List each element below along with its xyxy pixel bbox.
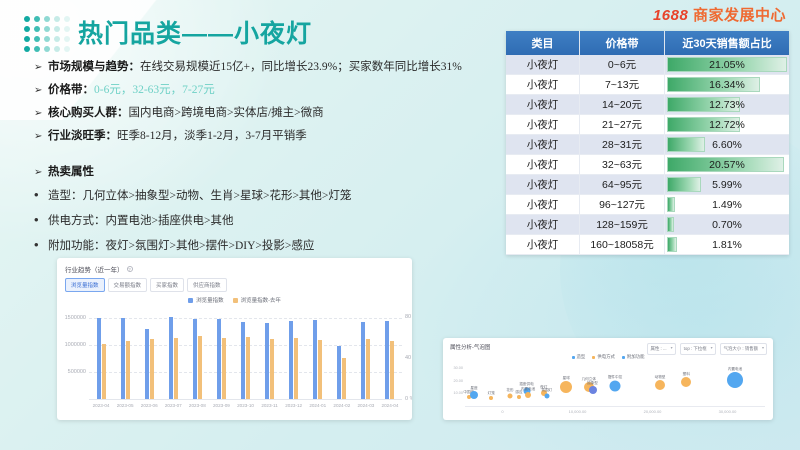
x-axis-tick-label: 0	[465, 407, 540, 414]
table-column-header: 近30天销售额占比	[664, 31, 789, 55]
key-fact-row: ➢核心购买人群：国内电商>跨境电商>实体店/摊主>微商	[34, 104, 504, 120]
table-row: 小夜灯28~31元6.60%	[506, 135, 789, 155]
chart-card-title: 行业趋势（近一年） ?	[65, 264, 412, 274]
logo-dot	[54, 26, 60, 32]
bubble-label: 花形	[506, 388, 513, 393]
x-axis-tick-label: 2023-12	[282, 400, 306, 408]
hot-attribute-row: •造型：几何立体>抽象型>动物、生肖>星球>花形>其他>灯笼	[34, 187, 504, 203]
x-axis-tick-label: 2023-05	[113, 400, 137, 408]
bubble-point[interactable]	[560, 381, 572, 393]
chart-tab[interactable]: 买家指数	[150, 278, 184, 292]
y2-axis-tick-label: 0 %	[405, 396, 412, 402]
chart-plot-area: 500000100000015000000 %40 %80 %	[89, 307, 402, 399]
cell-share: 21.05%	[664, 55, 789, 75]
chart-tab[interactable]: 交易额指数	[108, 278, 148, 292]
cell-price-band: 64~95元	[580, 175, 665, 195]
bubble-label: 塑料	[683, 372, 690, 377]
x-axis-tick-label: 30,000.00	[690, 407, 765, 414]
x-axis-tick-label: 2023-06	[137, 400, 161, 408]
x-axis-tick-label: 20,000.00	[615, 407, 690, 414]
key-fact-label: 核心购买人群：	[48, 104, 129, 120]
logo-dot	[24, 16, 30, 22]
key-facts-list: ➢市场规模与趋势：在线交易规模近15亿+，同比增长23.9%；买家数年同比增长3…	[34, 58, 504, 150]
key-fact-label: 价格带：	[48, 81, 94, 97]
logo-dot	[44, 26, 50, 32]
table-row: 小夜灯128~159元0.70%	[506, 215, 789, 235]
chart-legend: 浏览量指数浏览量指数-去年	[57, 296, 412, 304]
share-label: 21.05%	[667, 59, 787, 71]
logo-dot	[24, 46, 30, 52]
cell-price-band: 128~159元	[580, 215, 665, 235]
bubble-label: 星球	[563, 376, 570, 381]
bubble-card-controls: 属性 : ...top : 下拉框气泡大小 : 销售额	[647, 343, 767, 355]
key-fact-row: ➢市场规模与趋势：在线交易规模近15亿+，同比增长23.9%；买家数年同比增长3…	[34, 58, 504, 74]
x-axis-tick-label: 2023-10	[233, 400, 257, 408]
table-column-header: 类目	[506, 31, 580, 55]
chart-tab[interactable]: 浏览量指数	[65, 278, 105, 292]
logo-dot	[24, 36, 30, 42]
cell-category: 小夜灯	[506, 235, 580, 255]
logo-dot	[64, 46, 70, 52]
y-axis-tick-label: 1000000	[65, 342, 86, 348]
cell-price-band: 7~13元	[580, 75, 665, 95]
hot-attribute-text: 附加功能：夜灯>氛围灯>其他>摆件>DIY>投影>感应	[48, 237, 314, 253]
bubble-point[interactable]	[727, 372, 743, 388]
bullet-dot: •	[34, 238, 48, 251]
logo-dot	[34, 36, 40, 42]
logo-dot	[44, 16, 50, 22]
table-row: 小夜灯14~20元12.73%	[506, 95, 789, 115]
legend-item[interactable]: 造型	[572, 354, 586, 360]
table-row: 小夜灯64~95元5.99%	[506, 175, 789, 195]
cell-category: 小夜灯	[506, 175, 580, 195]
share-label: 12.72%	[667, 119, 787, 131]
bullet-dot: •	[34, 213, 48, 226]
cell-category: 小夜灯	[506, 75, 580, 95]
cell-price-band: 28~31元	[580, 135, 665, 155]
y2-axis-tick-label: 80 %	[405, 314, 412, 320]
y-axis-tick-label: 20.00	[453, 379, 463, 383]
y2-axis-tick-label: 40 %	[405, 355, 412, 361]
x-axis-tick-label: 2024-04	[378, 400, 402, 408]
share-label: 0.70%	[667, 219, 787, 231]
x-axis-tick-label: 2024-02	[330, 400, 354, 408]
share-label: 6.60%	[667, 139, 787, 151]
share-label: 5.99%	[667, 179, 787, 191]
cell-category: 小夜灯	[506, 215, 580, 235]
share-bar: 5.99%	[667, 176, 787, 193]
bubble-point[interactable]	[489, 396, 493, 400]
question-circle-icon[interactable]: ?	[127, 266, 133, 272]
bubble-x-axis: 010,000.0020,000.0030,000.00	[465, 406, 765, 414]
key-fact-label: 行业淡旺季：	[48, 127, 117, 143]
cell-share: 16.34%	[664, 75, 789, 95]
bubble-point[interactable]	[681, 377, 691, 387]
x-axis-tick-label: 2023-11	[258, 400, 282, 408]
cell-share: 1.49%	[664, 195, 789, 215]
hot-attribute-text: 供电方式：内置电池>插座供电>其他	[48, 212, 233, 228]
share-bar: 1.81%	[667, 236, 787, 253]
y-axis-tick-label: 1500000	[65, 315, 86, 321]
bubble-point[interactable]	[544, 393, 549, 398]
bullet-marker: ➢	[34, 131, 48, 142]
bullet-marker: ➢	[34, 108, 48, 119]
key-fact-label: 市场规模与趋势：	[48, 58, 140, 74]
bubble-point[interactable]	[517, 395, 521, 399]
hot-attributes-heading: ➢ 热卖属性	[34, 163, 504, 179]
bubble-plot-area: 10.0020.0030.00中国结星座灯笼花形感应插座供电内置电池夜灯氛围灯星…	[465, 362, 765, 406]
cell-price-band: 0~6元	[580, 55, 665, 75]
logo-dot	[34, 46, 40, 52]
bubble-point[interactable]	[525, 392, 531, 398]
x-axis-tick-label: 2023-09	[209, 400, 233, 408]
cell-category: 小夜灯	[506, 55, 580, 75]
share-label: 12.73%	[667, 99, 787, 111]
y-axis-tick-label: 500000	[68, 369, 86, 375]
logo-dot	[64, 36, 70, 42]
logo-dot	[24, 26, 30, 32]
x-axis-tick-label: 2023-04	[89, 400, 113, 408]
share-bar: 20.57%	[667, 156, 787, 173]
hot-attributes-list: ➢ 热卖属性 •造型：几何立体>抽象型>动物、生肖>星球>花形>其他>灯笼•供电…	[34, 163, 504, 262]
share-bar: 12.72%	[667, 116, 787, 133]
bubble-label: 内置电池	[521, 387, 535, 392]
x-axis-tick-label: 2024-03	[354, 400, 378, 408]
cell-price-band: 14~20元	[580, 95, 665, 115]
table-row: 小夜灯7~13元16.34%	[506, 75, 789, 95]
logo-dot	[54, 16, 60, 22]
share-label: 1.81%	[667, 239, 787, 251]
cell-share: 12.73%	[664, 95, 789, 115]
share-label: 1.49%	[667, 199, 787, 211]
cell-category: 小夜灯	[506, 195, 580, 215]
logo-dot	[34, 16, 40, 22]
bullet-dot: •	[34, 188, 48, 201]
share-label: 16.34%	[667, 79, 787, 91]
chart-tab[interactable]: 供应商指数	[187, 278, 227, 292]
brand-logo: 1688 商家发展中心	[653, 4, 786, 25]
cell-share: 5.99%	[664, 175, 789, 195]
cell-price-band: 160~18058元	[580, 235, 665, 255]
bubble-point[interactable]	[655, 380, 665, 390]
bubble-point[interactable]	[470, 391, 478, 399]
bullet-marker: ➢	[34, 167, 48, 178]
legend-item[interactable]: 浏览量指数-去年	[233, 296, 281, 304]
hot-attribute-row: •供电方式：内置电池>插座供电>其他	[34, 212, 504, 228]
cell-category: 小夜灯	[506, 95, 580, 115]
industry-trend-chart-card: 行业趋势（近一年） ? 浏览量指数交易额指数买家指数供应商指数 浏览量指数浏览量…	[57, 258, 412, 420]
price-band-table: 类目价格带近30天销售额占比 小夜灯0~6元21.05%小夜灯7~13元16.3…	[506, 31, 789, 255]
bubble-label: 内置电池	[728, 367, 742, 372]
cell-share: 0.70%	[664, 215, 789, 235]
cell-price-band: 96~127元	[580, 195, 665, 215]
bubble-label: 氛围灯	[541, 388, 552, 393]
chart-tabs: 浏览量指数交易额指数买家指数供应商指数	[65, 278, 412, 292]
cell-share: 12.72%	[664, 115, 789, 135]
share-bar: 12.73%	[667, 96, 787, 113]
cell-share: 6.60%	[664, 135, 789, 155]
bubble-filter-select[interactable]: top : 下拉框	[680, 343, 716, 355]
attribute-bubble-chart-card: 属性分析-气泡图 属性 : ...top : 下拉框气泡大小 : 销售额 造型供…	[443, 338, 773, 420]
bubble-label: 抽象型	[587, 381, 598, 386]
logo-dot	[44, 46, 50, 52]
bubble-label: 动物型	[655, 375, 666, 380]
cell-share: 20.57%	[664, 155, 789, 175]
chart-card-title-text: 行业趋势（近一年）	[65, 264, 124, 274]
hot-attributes-heading-label: 热卖属性	[48, 163, 94, 179]
table-row: 小夜灯160~18058元1.81%	[506, 235, 789, 255]
bubble-label: 星座	[470, 386, 477, 391]
share-bar: 1.49%	[667, 196, 787, 213]
page-title: 热门品类——小夜灯	[78, 14, 312, 50]
table: 类目价格带近30天销售额占比 小夜灯0~6元21.05%小夜灯7~13元16.3…	[506, 31, 789, 255]
bubble-point[interactable]	[589, 386, 597, 394]
legend-item[interactable]: 浏览量指数	[188, 296, 224, 304]
table-body: 小夜灯0~6元21.05%小夜灯7~13元16.34%小夜灯14~20元12.7…	[506, 55, 789, 255]
key-fact-row: ➢行业淡旺季：旺季8-12月，淡季1-2月，3-7月平销季	[34, 127, 504, 143]
key-fact-value: 国内电商>跨境电商>实体店/摊主>微商	[129, 104, 324, 120]
logo-dot	[54, 36, 60, 42]
cell-share: 1.81%	[664, 235, 789, 255]
logo-dot	[34, 26, 40, 32]
cell-category: 小夜灯	[506, 155, 580, 175]
cell-category: 小夜灯	[506, 135, 580, 155]
table-head: 类目价格带近30天销售额占比	[506, 31, 789, 55]
cell-price-band: 32~63元	[580, 155, 665, 175]
share-bar: 16.34%	[667, 76, 787, 93]
bullet-marker: ➢	[34, 85, 48, 96]
x-axis-tick-label: 2023-08	[185, 400, 209, 408]
cell-price-band: 21~27元	[580, 115, 665, 135]
table-row: 小夜灯21~27元12.72%	[506, 115, 789, 135]
legend-item[interactable]: 附加功能	[622, 354, 645, 360]
hot-attribute-row: •附加功能：夜灯>氛围灯>其他>摆件>DIY>投影>感应	[34, 237, 504, 253]
x-axis-tick-label: 10,000.00	[540, 407, 615, 414]
key-fact-accent: 0-6元，32-63元，7-27元	[94, 81, 215, 97]
share-bar: 0.70%	[667, 216, 787, 233]
dot-grid-icon	[24, 16, 72, 54]
bubble-filter-select[interactable]: 气泡大小 : 销售额	[720, 343, 767, 355]
table-header-row: 类目价格带近30天销售额占比	[506, 31, 789, 55]
brand-number: 1688	[653, 7, 688, 24]
table-row: 小夜灯0~6元21.05%	[506, 55, 789, 75]
key-fact-row: ➢价格带：0-6元，32-63元，7-27元	[34, 81, 504, 97]
key-fact-value: 在线交易规模近15亿+，同比增长23.9%；买家数年同比增长31%	[140, 58, 462, 74]
share-bar: 6.60%	[667, 136, 787, 153]
bubble-label: 灯笼	[488, 391, 495, 396]
x-axis-tick-label: 2024-01	[306, 400, 330, 408]
y-axis-tick-label: 30.00	[453, 366, 463, 370]
brand-text: 商家发展中心	[693, 7, 786, 24]
bullet-marker: ➢	[34, 62, 48, 73]
legend-item[interactable]: 供电方式	[592, 354, 615, 360]
x-axis-tick-label: 2023-07	[161, 400, 185, 408]
key-fact-value: 旺季8-12月，淡季1-2月，3-7月平销季	[117, 127, 307, 143]
logo-dot	[44, 36, 50, 42]
table-row: 小夜灯96~127元1.49%	[506, 195, 789, 215]
logo-dot	[54, 46, 60, 52]
logo-dot	[64, 16, 70, 22]
y-axis-tick-label: 10.00	[453, 391, 463, 395]
share-bar: 21.05%	[667, 56, 787, 73]
bubble-filter-select[interactable]: 属性 : ...	[647, 343, 676, 355]
bubble-point[interactable]	[508, 393, 513, 398]
table-column-header: 价格带	[580, 31, 665, 55]
hot-attribute-text: 造型：几何立体>抽象型>动物、生肖>星球>花形>其他>灯笼	[48, 187, 351, 203]
cell-category: 小夜灯	[506, 115, 580, 135]
share-label: 20.57%	[667, 159, 787, 171]
bubble-point[interactable]	[610, 380, 621, 391]
table-row: 小夜灯32~63元20.57%	[506, 155, 789, 175]
chart-x-axis: 2023-042023-052023-062023-072023-082023-…	[89, 399, 402, 408]
logo-dot	[64, 26, 70, 32]
bubble-label: 摆件中控	[608, 375, 622, 380]
